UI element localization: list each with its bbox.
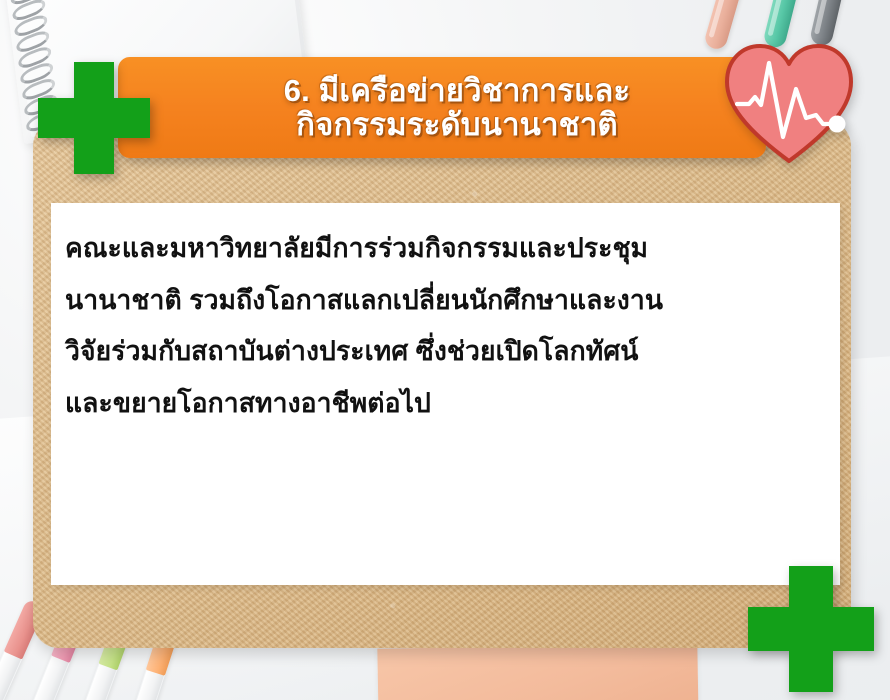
sticky-note-peach [377, 643, 698, 700]
green-cross-top-left-icon [38, 62, 150, 174]
heart-ekg-icon [724, 42, 854, 164]
green-cross-bottom-right-icon [748, 566, 874, 692]
content-card: คณะและมหาวิทยาลัยมีการร่วมกิจกรรมและประช… [51, 203, 840, 585]
banner-title-line-1: 6. มีเครือข่ายวิชาการและ [284, 73, 631, 108]
banner-title-line-2: กิจกรรมระดับนานาชาติ [284, 108, 631, 141]
content-card-body: คณะและมหาวิทยาลัยมีการร่วมกิจกรรมและประช… [51, 203, 840, 430]
body-paragraph-line-4: และขยายโอกาสทางอาชีพต่อไป [65, 378, 818, 430]
title-banner: 6. มีเครือข่ายวิชาการและ กิจกรรมระดับนาน… [118, 57, 766, 158]
body-paragraph-line-1: คณะและมหาวิทยาลัยมีการร่วมกิจกรรมและประช… [65, 223, 818, 275]
banner-title: 6. มีเครือข่ายวิชาการและ กิจกรรมระดับนาน… [254, 74, 631, 141]
body-paragraph-line-3: วิจัยร่วมกับสถาบันต่างประเทศ ซึ่งช่วยเปิ… [65, 326, 818, 378]
slide-root: คณะและมหาวิทยาลัยมีการร่วมกิจกรรมและประช… [0, 0, 890, 700]
body-paragraph-line-2: นานาชาติ รวมถึงโอกาสแลกเปลี่ยนนักศึกษาแล… [65, 275, 818, 327]
